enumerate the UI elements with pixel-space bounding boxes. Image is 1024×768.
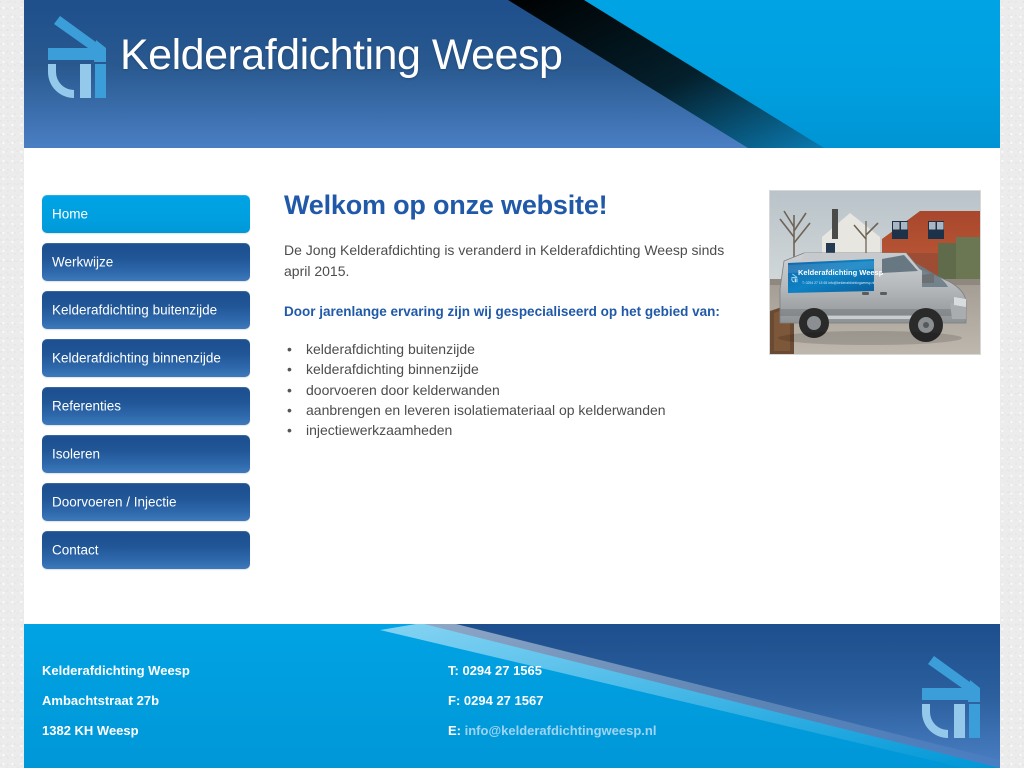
footer-email-label: E: — [448, 723, 461, 738]
site-footer: Kelderafdichting Weesp Ambachtstraat 27b… — [24, 624, 1000, 768]
van-sign-text: Kelderafdichting Weesp — [798, 268, 884, 277]
sidebar-item-kelderafdichting-buitenzijde[interactable]: Kelderafdichting buitenzijde — [42, 291, 250, 329]
svg-text:T: 0294 27 15 65 info@kelder: T: 0294 27 15 65 info@kelderafdichtingwe… — [802, 281, 874, 285]
sidebar-item-werkwijze[interactable]: Werkwijze — [42, 243, 250, 281]
list-item: kelderafdichting buitenzijde — [284, 339, 754, 359]
kelderafdichting-logo-icon — [918, 650, 984, 738]
sidebar-item-label: Isoleren — [52, 447, 100, 462]
sidebar-item-label: Kelderafdichting binnenzijde — [52, 351, 221, 366]
list-item: doorvoeren door kelderwanden — [284, 380, 754, 400]
sidebar-item-doorvoeren-injectie[interactable]: Doorvoeren / Injectie — [42, 483, 250, 521]
footer-email-row: E: info@kelderafdichtingweesp.nl — [448, 724, 656, 754]
list-item: kelderafdichting binnenzijde — [284, 359, 754, 379]
footer-email-link[interactable]: info@kelderafdichtingweesp.nl — [465, 723, 657, 738]
footer-phone-value: 0294 27 1565 — [462, 663, 542, 678]
sidebar-item-home[interactable]: Home — [42, 195, 250, 233]
main-article: Welkom op onze website! De Jong Kelderaf… — [284, 190, 754, 441]
company-van-photo: Kelderafdichting Weesp T: 0294 27 15 65 … — [769, 190, 981, 355]
list-item: injectiewerkzaamheden — [284, 420, 754, 440]
sidebar-navigation: Home Werkwijze Kelderafdichting buitenzi… — [42, 195, 250, 579]
van-photo-illustration: Kelderafdichting Weesp T: 0294 27 15 65 … — [770, 191, 980, 354]
footer-phone-row: T: 0294 27 1565 — [448, 664, 656, 694]
site-header: Kelderafdichting Weesp — [24, 0, 1000, 148]
sidebar-item-kelderafdichting-binnenzijde[interactable]: Kelderafdichting binnenzijde — [42, 339, 250, 377]
intro-paragraph: De Jong Kelderafdichting is veranderd in… — [284, 240, 736, 283]
list-item: aanbrengen en leveren isolatiemateriaal … — [284, 400, 754, 420]
services-list: kelderafdichting buitenzijde kelderafdic… — [284, 339, 754, 441]
footer-fax-label: F: — [448, 693, 460, 708]
sidebar-item-label: Werkwijze — [52, 255, 113, 270]
sidebar-item-referenties[interactable]: Referenties — [42, 387, 250, 425]
page-title: Welkom op onze website! — [284, 190, 754, 221]
sidebar-item-label: Kelderafdichting buitenzijde — [52, 303, 217, 318]
footer-city: 1382 KH Weesp — [42, 724, 190, 754]
sidebar-item-isoleren[interactable]: Isoleren — [42, 435, 250, 473]
services-lead-text: Door jarenlange ervaring zijn wij gespec… — [284, 302, 754, 322]
site-title: Kelderafdichting Weesp — [120, 34, 562, 77]
sidebar-item-label: Doorvoeren / Injectie — [52, 495, 177, 510]
sidebar-item-label: Home — [52, 207, 88, 222]
footer-contact-column: T: 0294 27 1565 F: 0294 27 1567 E: info@… — [448, 664, 656, 754]
sidebar-item-label: Referenties — [52, 399, 121, 414]
webpage: Kelderafdichting Weesp Home Werkwijze Ke… — [0, 0, 1024, 768]
kelderafdichting-logo-icon — [44, 10, 110, 98]
content-area: Home Werkwijze Kelderafdichting buitenzi… — [24, 148, 1000, 624]
footer-address-column: Kelderafdichting Weesp Ambachtstraat 27b… — [42, 664, 190, 754]
sidebar-item-label: Contact — [52, 543, 99, 558]
footer-fax-value: 0294 27 1567 — [464, 693, 544, 708]
sidebar-item-contact[interactable]: Contact — [42, 531, 250, 569]
footer-phone-label: T: — [448, 663, 459, 678]
footer-fax-row: F: 0294 27 1567 — [448, 694, 656, 724]
footer-company-name: Kelderafdichting Weesp — [42, 664, 190, 694]
footer-street: Ambachtstraat 27b — [42, 694, 190, 724]
